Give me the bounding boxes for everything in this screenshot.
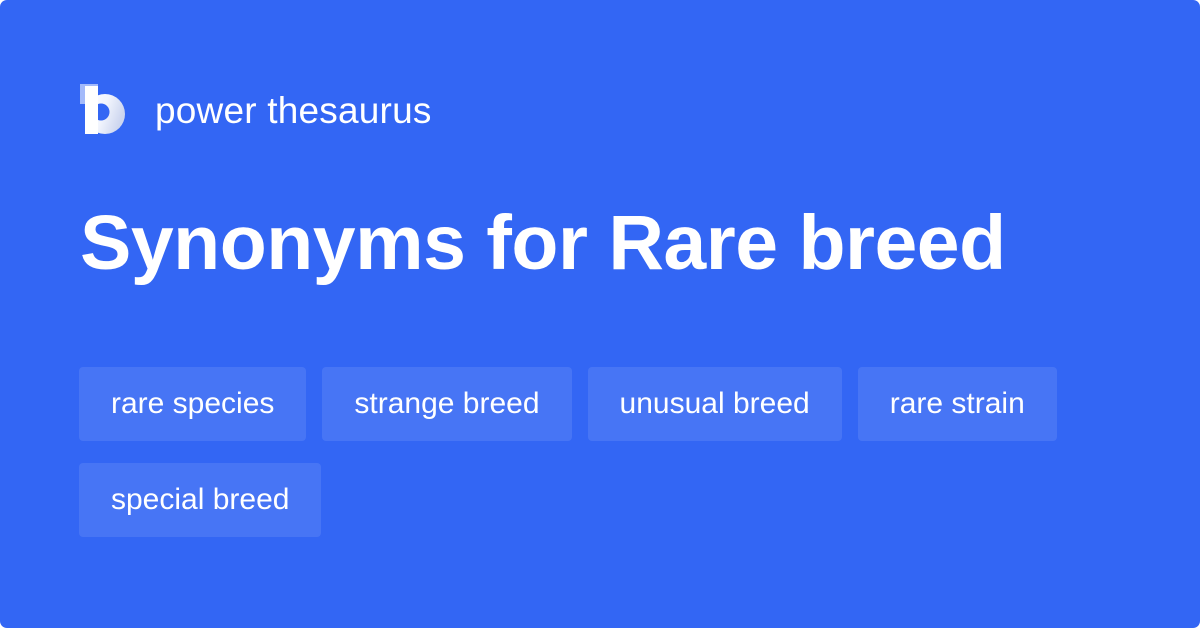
synonym-chip[interactable]: rare strain <box>858 367 1057 441</box>
synonym-chip[interactable]: rare species <box>79 367 306 441</box>
synonym-chip-list: rare species strange breed unusual breed… <box>79 367 1119 537</box>
power-thesaurus-b-logo-icon <box>80 84 126 136</box>
synonym-chip[interactable]: strange breed <box>322 367 571 441</box>
og-preview-card: power thesaurus Synonyms for Rare breed … <box>0 0 1200 628</box>
brand-logo-link[interactable]: power thesaurus <box>80 82 432 138</box>
page-title: Synonyms for Rare breed <box>80 197 1140 289</box>
synonym-chip[interactable]: unusual breed <box>588 367 842 441</box>
synonym-chip[interactable]: special breed <box>79 463 321 537</box>
brand-name: power thesaurus <box>155 92 432 129</box>
